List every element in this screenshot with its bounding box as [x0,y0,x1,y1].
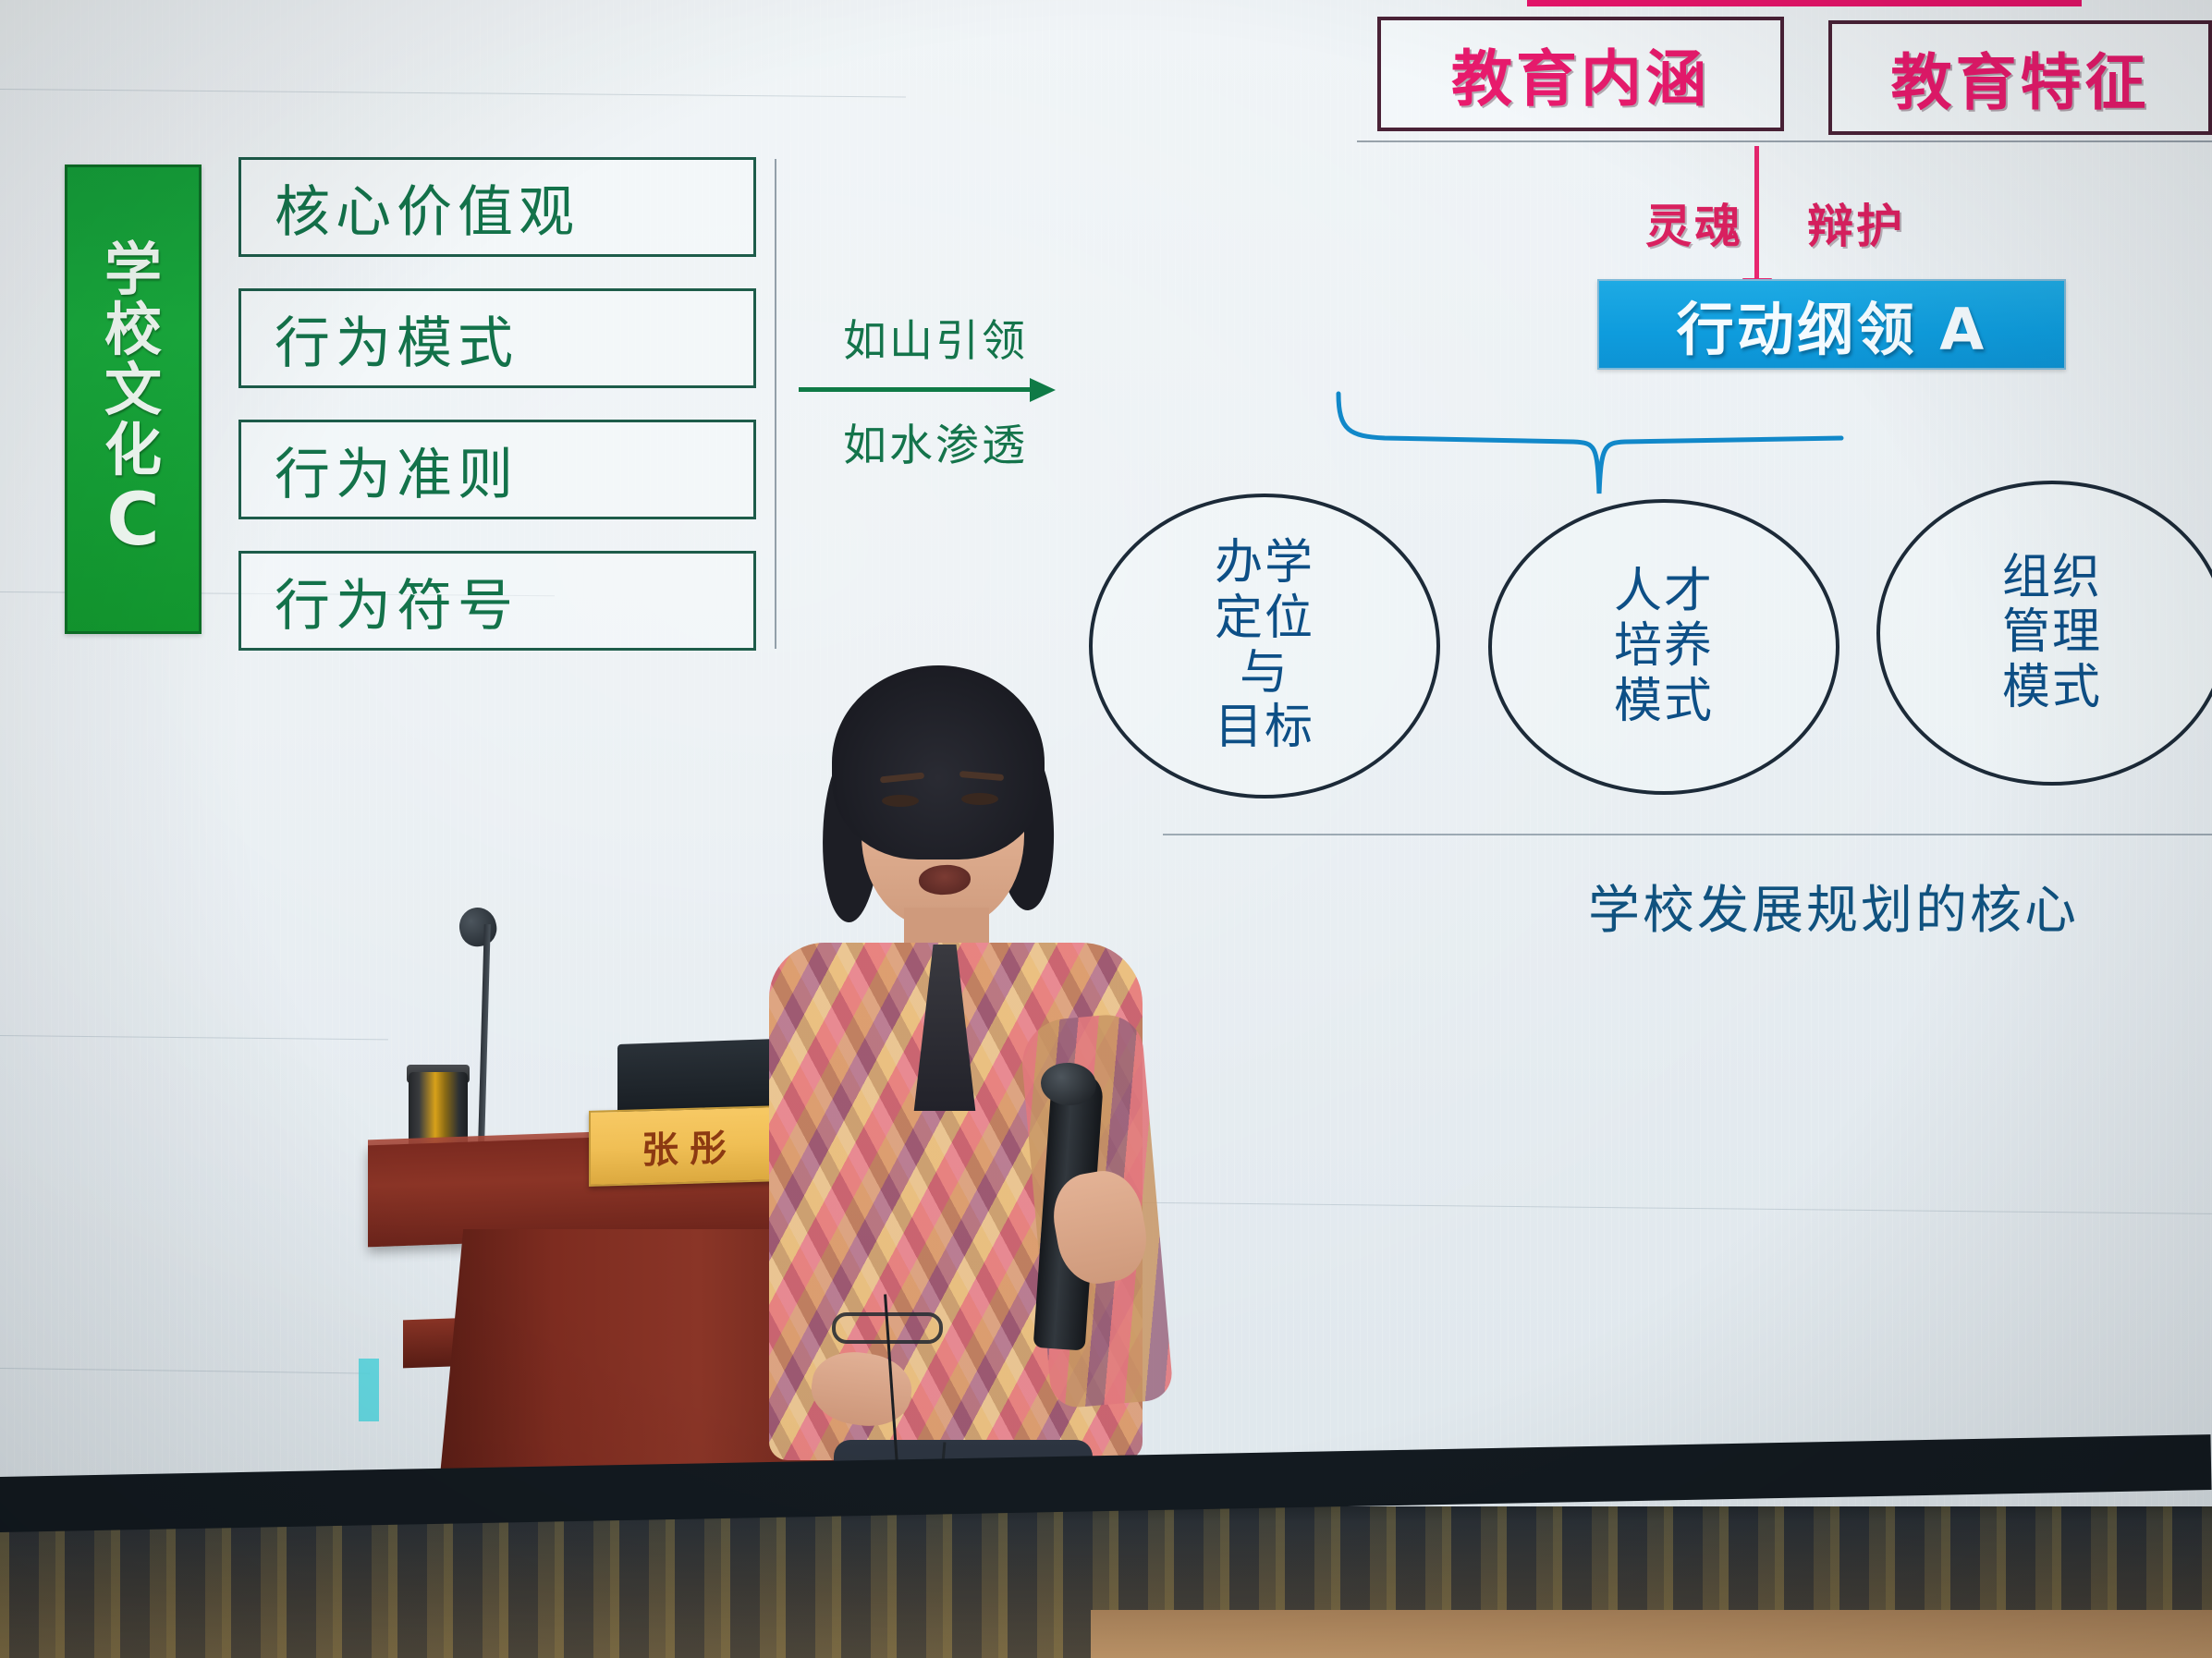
edu-connotation-label: 教育内涵 [1451,30,1710,118]
culture-box-label: 行为模式 [275,299,519,379]
right-arrow-icon [797,369,1074,409]
edu-connotation-box: 教育内涵 [1377,17,1784,131]
culture-box-behavior-pattern: 行为模式 [238,288,756,388]
action-program-box: 行动纲领 A [1597,279,2066,370]
name-plate-text: 张彤 [632,1117,738,1174]
transmission-arrow-group: 如山引领 如水渗透 [797,305,1074,473]
ellipse-label: 办学定位与目标 [1215,536,1314,755]
arrow-top-label: 如山引领 [797,305,1074,369]
culture-box-list: 核心价值观 行为模式 行为准则 行为符号 [238,157,756,682]
arrow-bottom-label: 如水渗透 [797,409,1074,473]
stage-wood-strip [1091,1610,2212,1658]
culture-group-rail [775,159,776,649]
culture-box-behavior-symbols: 行为符号 [238,551,756,651]
edu-characteristics-box: 教育特征 [1828,20,2212,135]
culture-box-label: 核心价值观 [275,167,580,248]
ellipse-label: 组织管理模式 [2002,551,2102,715]
ellipse-organization-management: 组织管理模式 [1876,481,2212,786]
ellipse-label: 人才培养模式 [1614,565,1714,729]
action-program-label: 行动纲领 A [1677,283,1987,366]
eye-right [961,793,998,805]
arrow-label-defend: 辩护 [1807,189,1905,256]
right-group-divider-bottom [1163,834,2212,835]
culture-box-label: 行为准则 [275,430,519,510]
culture-char-3: 化 [104,421,162,479]
culture-char-0: 学 [104,240,162,299]
cutoff-pink-box-edge [1527,0,2082,6]
arrow-label-soul: 灵魂 [1645,189,1743,256]
development-plan-core-note: 学校发展规划的核心 [1588,869,2079,944]
down-arrow-icon [1754,146,1759,280]
teal-marker-strip [359,1359,379,1421]
culture-box-core-values: 核心价值观 [238,157,756,257]
culture-box-behavior-norms: 行为准则 [238,420,756,519]
ellipse-talent-cultivation: 人才培养模式 [1488,499,1839,795]
culture-char-2: 文 [104,360,162,419]
culture-char-1: 校 [104,300,162,359]
culture-box-label: 行为符号 [275,561,519,641]
hair [832,665,1045,859]
blue-brace-icon [1331,388,1849,499]
eye-left [882,795,919,807]
school-culture-tag: 学 校 文 化 C [65,165,202,634]
culture-tag-letter: C [106,483,159,559]
right-group-divider-top [1357,140,2212,142]
presentation-photo: 学 校 文 化 C 核心价值观 行为模式 行为准则 行为符号 如山引领 如水渗透… [0,0,2212,1658]
edu-characteristics-label: 教育特征 [1891,33,2150,122]
